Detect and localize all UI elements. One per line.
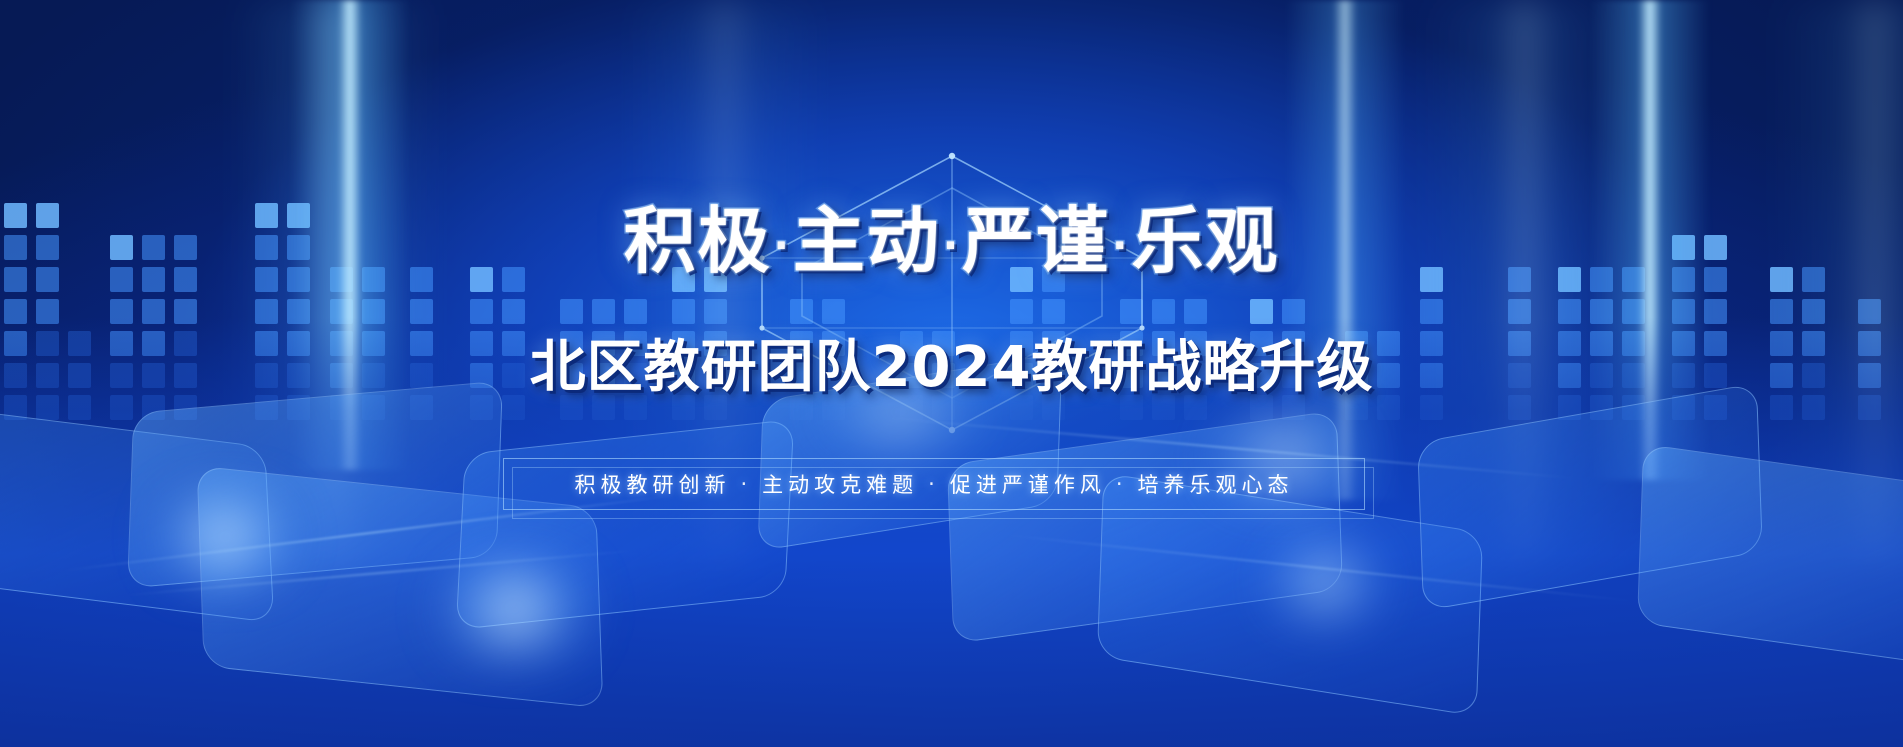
tagline-item-2: 主动攻克难题	[762, 469, 918, 499]
tagline-container: 积极教研创新·主动攻克难题·促进严谨作风·培养乐观心态	[503, 458, 1365, 510]
banner-headline: 积极·主动·严谨·乐观	[0, 182, 1903, 287]
headline-part-1: 积极	[624, 199, 772, 283]
tagline-separator-3: ·	[1116, 472, 1128, 496]
headline-separator-3: ·	[1112, 223, 1129, 269]
banner-content: 积极·主动·严谨·乐观 北区教研团队2024教研战略升级 积极教研创新·主动攻克…	[0, 0, 1903, 747]
tagline-item-1: 积极教研创新	[574, 469, 730, 499]
tagline-item-4: 培养乐观心态	[1138, 469, 1294, 499]
headline-part-4: 乐观	[1131, 199, 1279, 283]
tagline-separator-2: ·	[928, 472, 940, 496]
tagline-item-3: 促进严谨作风	[950, 469, 1106, 499]
headline-separator-1: ·	[774, 223, 791, 269]
banner-subtitle: 北区教研团队2024教研战略升级	[0, 322, 1903, 403]
headline-part-3: 严谨	[962, 199, 1110, 283]
banner-tagline: 积极教研创新·主动攻克难题·促进严谨作风·培养乐观心态	[503, 458, 1365, 510]
tagline-separator-1: ·	[740, 472, 752, 496]
event-banner: 积极·主动·严谨·乐观 北区教研团队2024教研战略升级 积极教研创新·主动攻克…	[0, 0, 1903, 747]
headline-separator-2: ·	[943, 223, 960, 269]
headline-part-2: 主动	[793, 199, 941, 283]
